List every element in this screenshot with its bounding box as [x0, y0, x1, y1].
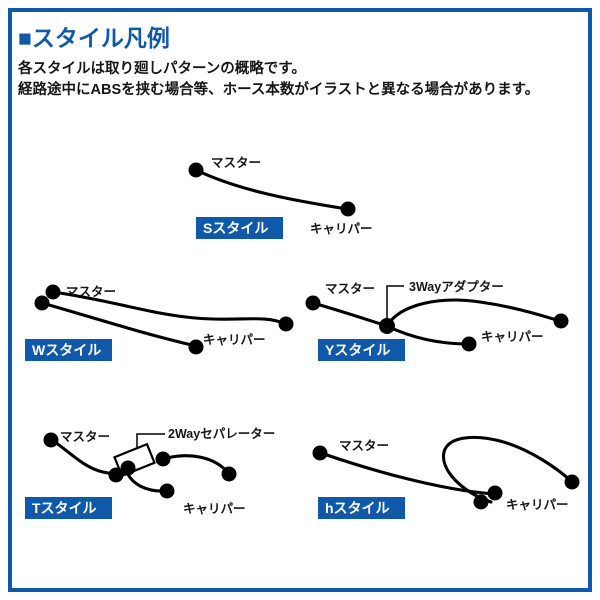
badge-s-style-text: Sスタイル: [203, 220, 268, 236]
w-style-master-label: マスター: [66, 284, 116, 299]
t-style-caliper-label: キャリパー: [183, 502, 246, 516]
t-style-hose-master-to-junction: [52, 440, 116, 474]
badge-t-style-text: Tスタイル: [32, 500, 97, 516]
y-style-caliper-node-1: [554, 314, 569, 329]
badge-t-style: Tスタイル: [25, 497, 112, 519]
h-style-caliper-node-3: [474, 495, 489, 510]
h-style-hose-loop-to-caliper-right: [444, 437, 571, 502]
y-style-adapter-node: [379, 318, 395, 334]
s-style-master-label: マスター: [211, 155, 261, 170]
w-style-master-node-1: [46, 285, 61, 300]
s-style-caliper-label: キャリパー: [310, 222, 373, 236]
h-style-caliper-node-1: [565, 475, 580, 490]
diagram-w-style: マスター キャリパー Wスタイル: [25, 284, 294, 361]
badge-w-style-text: Wスタイル: [32, 342, 101, 358]
y-style-caliper-node-2: [462, 337, 477, 352]
y-style-hose-adapter-to-caliper-upper: [387, 300, 560, 326]
t-style-caliper-node-1: [222, 467, 237, 482]
s-style-caliper-node: [341, 202, 356, 217]
style-diagrams: マスター キャリパー Sスタイル マスター キャリパー Wスタイル: [0, 0, 600, 600]
badge-y-style: Yスタイル: [318, 339, 405, 361]
diagram-s-style: マスター キャリパー Sスタイル: [189, 155, 373, 239]
h-style-caliper-label: キャリパー: [506, 498, 569, 512]
y-style-adapter-label: 3Wayアダプター: [409, 279, 504, 294]
t-style-separator-label: 2Wayセパレーター: [168, 426, 275, 441]
h-style-master-node: [313, 446, 328, 461]
w-style-master-node-2: [35, 296, 50, 311]
t-style-junction-node-2: [121, 461, 136, 476]
diagram-y-style: マスター 3Wayアダプター キャリパー Yスタイル: [306, 279, 569, 361]
badge-h-style: hスタイル: [318, 497, 405, 519]
s-style-master-node: [189, 163, 204, 178]
diagram-t-style: マスター 2Wayセパレーター キャリパー Tスタイル: [25, 426, 275, 519]
badge-y-style-text: Yスタイル: [325, 342, 390, 358]
badge-s-style: Sスタイル: [196, 217, 283, 239]
w-style-caliper-label: キャリパー: [203, 333, 266, 347]
t-style-master-label: マスター: [60, 429, 110, 444]
t-style-caliper-node-2: [160, 484, 175, 499]
s-style-hose-line: [196, 170, 347, 209]
y-style-caliper-label: キャリパー: [481, 330, 544, 344]
t-style-master-node: [44, 433, 59, 448]
w-style-caliper-node-2: [189, 340, 204, 355]
style-legend-page: ■スタイル凡例 各スタイルは取り廻しパターンの概略です。 経路途中にABSを挟む…: [0, 0, 600, 600]
h-style-hose-master-to-caliper: [321, 453, 494, 494]
t-style-separator-node: [156, 452, 171, 467]
h-style-master-label: マスター: [339, 438, 389, 453]
y-style-hose-master-to-adapter: [313, 303, 387, 326]
w-style-caliper-node-1: [279, 317, 294, 332]
diagram-h-style: マスター キャリパー hスタイル: [313, 437, 580, 519]
y-style-master-label: マスター: [325, 281, 375, 296]
badge-h-style-text: hスタイル: [325, 500, 390, 516]
t-style-hose-separator-to-caliper-right: [163, 456, 229, 474]
badge-w-style: Wスタイル: [25, 339, 112, 361]
h-style-caliper-node-2: [488, 486, 503, 501]
y-style-master-node: [306, 296, 321, 311]
